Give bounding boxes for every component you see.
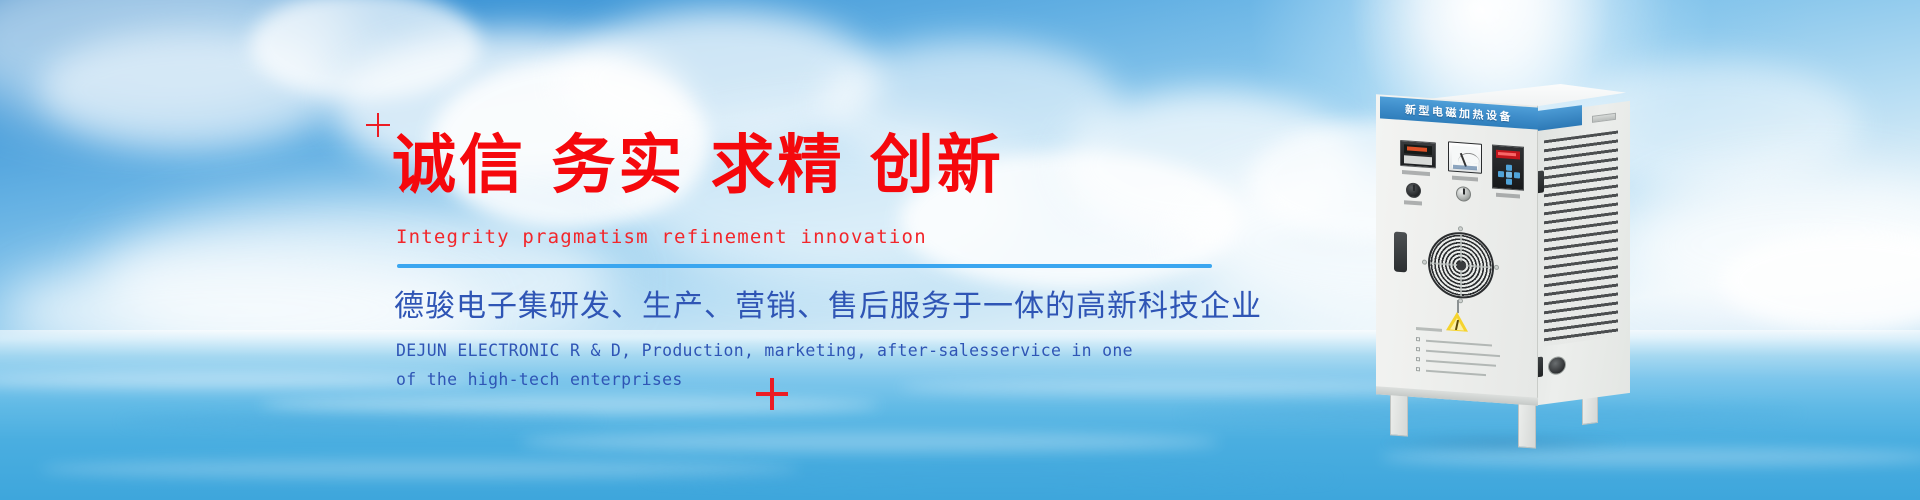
instruction-line — [1426, 350, 1500, 357]
plus-decoration-top — [366, 113, 390, 137]
instruction-bullet — [1416, 337, 1420, 341]
machine-side-details — [1538, 101, 1630, 405]
side-switch — [1538, 170, 1544, 193]
wave — [640, 470, 1340, 486]
controller-label — [1402, 170, 1430, 176]
keypad-label — [1496, 193, 1520, 199]
ventilation-grille — [1544, 130, 1618, 346]
fan-screw — [1494, 265, 1499, 270]
wave — [120, 414, 600, 428]
banner-stage: 诚信 务实 求精 创新 Integrity pragmatism refinem… — [0, 0, 1920, 500]
instruction-heading — [1416, 327, 1442, 332]
side-badge — [1592, 113, 1616, 123]
power-knob-label — [1404, 200, 1422, 205]
machine-control-panel — [1376, 94, 1538, 406]
instruction-line — [1426, 360, 1496, 367]
subtitle-chinese: 德骏电子集研发、生产、营销、售后服务于一体的高新科技企业 — [394, 287, 1262, 327]
plus-decoration-bottom — [756, 378, 788, 410]
fan-screw — [1458, 298, 1463, 303]
adjust-knob[interactable] — [1456, 186, 1471, 202]
controller-display — [1404, 144, 1432, 155]
ammeter-label — [1452, 176, 1478, 182]
keypad-buttons[interactable] — [1497, 164, 1521, 186]
power-selector-knob[interactable] — [1406, 182, 1421, 198]
product-image-induction-heater: 新型电磁加热设备 — [1368, 62, 1640, 462]
instruction-bullet — [1416, 367, 1420, 371]
side-switch — [1538, 356, 1543, 377]
headline-english: Integrity pragmatism refinement innovati… — [396, 226, 927, 248]
wave — [520, 432, 1220, 452]
fan-screw — [1422, 259, 1427, 264]
power-socket — [1548, 355, 1566, 375]
divider-line — [397, 264, 1212, 268]
subtitle-english-line2: of the high-tech enterprises — [396, 365, 683, 394]
headline-chinese: 诚信 务实 求精 创新 — [392, 128, 1004, 204]
product-shadow — [1378, 430, 1628, 456]
instruction-label — [1412, 335, 1508, 382]
controller-buttons[interactable] — [1404, 155, 1432, 165]
keypad-panel[interactable] — [1492, 145, 1524, 191]
fan-hub — [1457, 260, 1466, 270]
instruction-line — [1426, 370, 1486, 376]
digital-controller[interactable] — [1400, 140, 1436, 169]
instruction-line — [1426, 340, 1492, 346]
instruction-bullet — [1416, 357, 1420, 361]
door-handle[interactable] — [1394, 231, 1407, 272]
instruction-bullet — [1416, 347, 1420, 351]
gauge-label — [1453, 165, 1477, 171]
subtitle-english-line1: DEJUN ELECTRONIC R & D, Production, mark… — [396, 336, 1133, 365]
cooling-fan-grille — [1428, 230, 1494, 301]
fan-screw — [1458, 226, 1463, 231]
led-display — [1496, 150, 1520, 160]
analog-ammeter — [1448, 141, 1482, 173]
